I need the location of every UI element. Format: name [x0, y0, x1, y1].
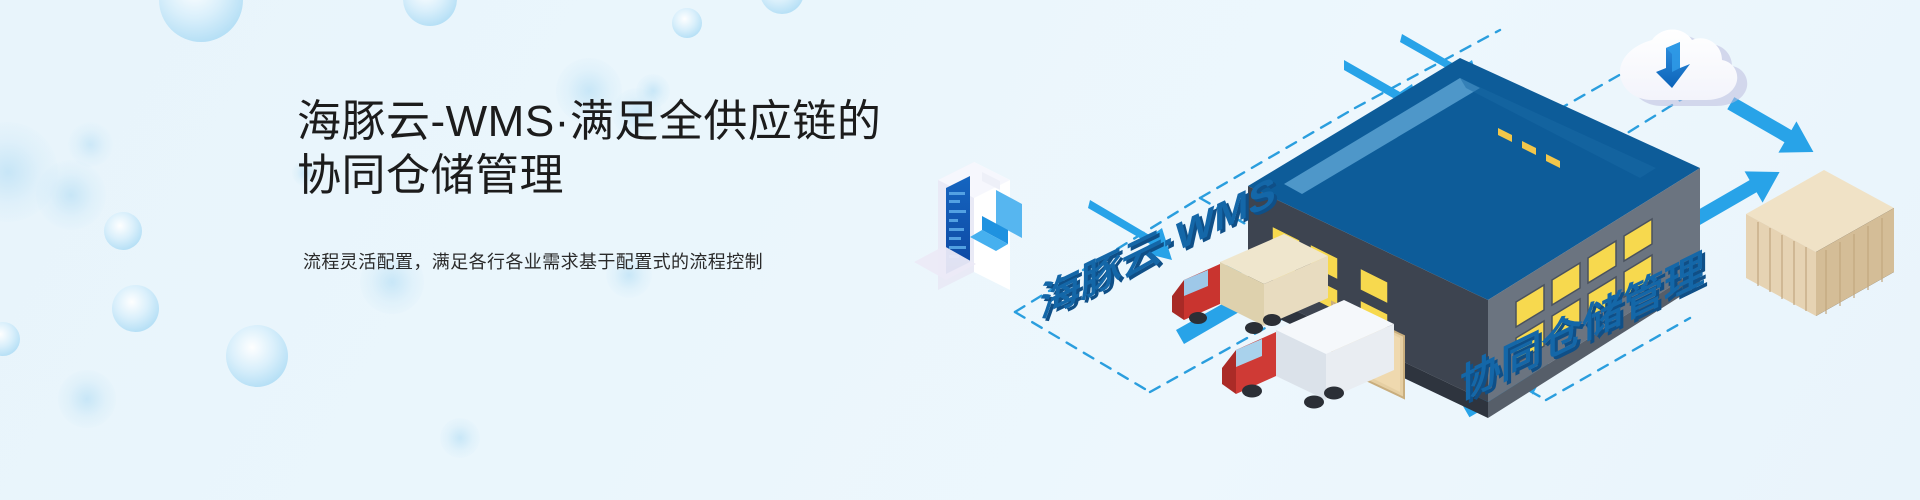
bubble-icon [440, 418, 480, 458]
bubble-icon [112, 285, 159, 332]
banner-copy: 海豚云-WMS·满足全供应链的协同仓储管理 流程灵活配置，满足各行各业需求基于配… [297, 95, 917, 275]
server-rack-icon [914, 162, 1022, 290]
banner-title-line2: 协同仓储管理 [297, 149, 917, 203]
banner-title-line1: 海豚云-WMS·满足全供应链的 [297, 97, 881, 146]
bubble-icon [226, 325, 288, 387]
bubble-icon [672, 8, 702, 38]
bubble-icon [104, 212, 142, 250]
bubble-icon [68, 122, 113, 167]
bubble-icon [58, 370, 116, 428]
warehouse-illustration: 海豚云·WMS 海豚云·WMS 协同仓储管理 协同仓储管理 [900, 0, 1920, 500]
bubble-icon [0, 122, 58, 222]
bubble-icon [760, 0, 804, 14]
bubble-icon [159, 0, 243, 42]
bubble-icon [403, 0, 457, 26]
bubble-icon [36, 160, 106, 230]
promo-banner: 海豚云-WMS·满足全供应链的协同仓储管理 流程灵活配置，满足各行各业需求基于配… [0, 0, 1920, 500]
banner-title: 海豚云-WMS·满足全供应链的协同仓储管理 [297, 95, 917, 203]
bubble-icon [0, 322, 20, 356]
banner-subtitle: 流程灵活配置，满足各行各业需求基于配置式的流程控制 [297, 203, 917, 275]
cloud-download-icon [1620, 30, 1747, 107]
